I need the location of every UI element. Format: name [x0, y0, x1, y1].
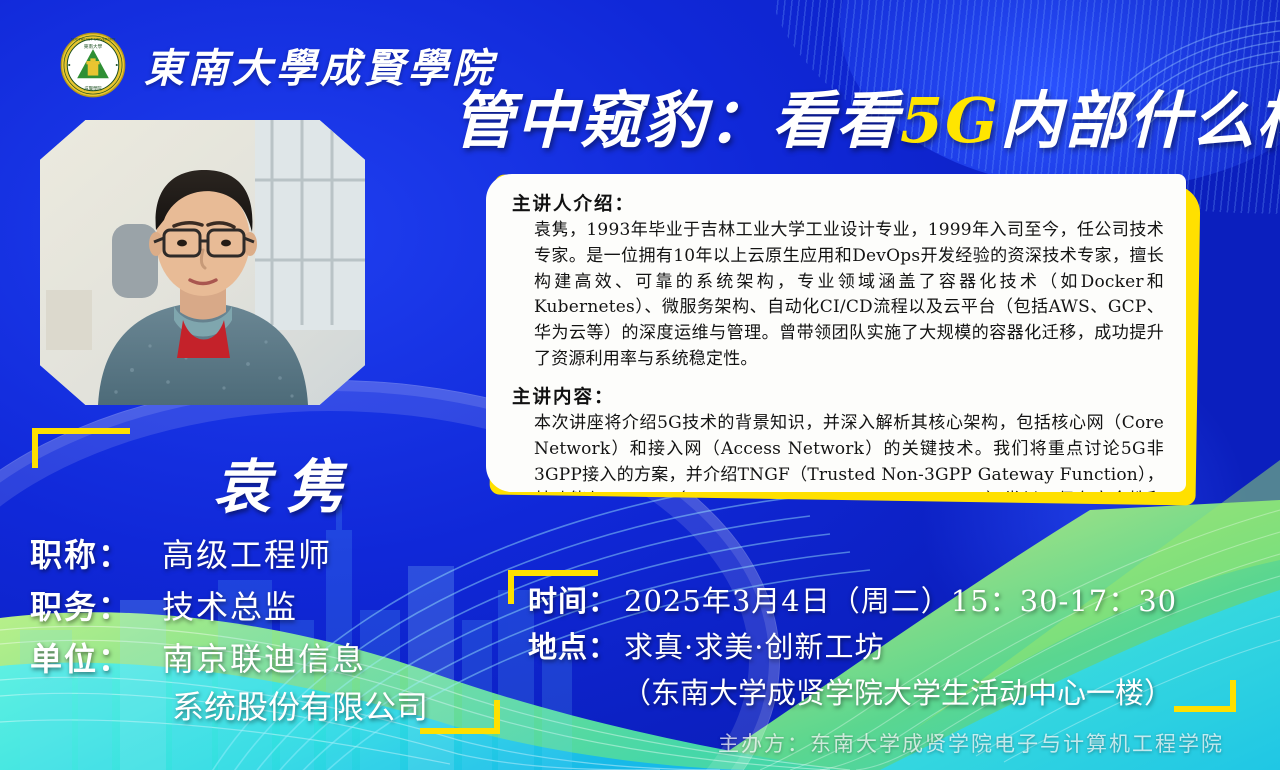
- event-place-sub: （东南大学成贤学院大学生活动中心一楼）: [622, 670, 1177, 712]
- speaker-photo: [40, 120, 365, 405]
- speaker-row-position: 职务： 技术总监: [30, 582, 500, 628]
- southeast-university-seal-icon: 東南大學 成賢學院 SOUTHEAST UNIVERSITY: [60, 32, 126, 98]
- intro-heading: 主讲人介绍：: [512, 190, 1164, 216]
- speaker-position-label: 职务：: [30, 582, 162, 628]
- speaker-title-label: 职称：: [30, 530, 162, 576]
- host-organizer-line: 主办方：东南大学成贤学院电子与计算机工程学院: [718, 728, 1224, 758]
- speaker-affiliation-label: 单位：: [30, 634, 162, 680]
- speaker-affiliation-line2: 系统股份有限公司: [172, 682, 500, 728]
- title-prefix: 管中窥豹：看看: [452, 84, 900, 157]
- poster-root: 東南大學 成賢學院 SOUTHEAST UNIVERSITY 東南大學成賢學院 …: [0, 0, 1280, 770]
- title-highlight-5g: 5G: [900, 84, 1000, 157]
- svg-text:SOUTHEAST UNIVERSITY: SOUTHEAST UNIVERSITY: [71, 38, 116, 42]
- event-time-row: 时间： 2025年3月4日（周二）15：30-17：30: [528, 578, 1177, 620]
- university-name: 東南大學成賢學院: [144, 36, 496, 94]
- speaker-name: 袁隽: [70, 440, 500, 524]
- info-card: 主讲人介绍： 袁隽，1993年毕业于吉林工业大学工业设计专业，1999年入司至今…: [486, 174, 1186, 492]
- speaker-row-title: 职称： 高级工程师: [30, 530, 500, 576]
- event-time-value: 2025年3月4日（周二）15：30-17：30: [624, 578, 1177, 620]
- speaker-info-block: 袁隽 职称： 高级工程师 职务： 技术总监 单位： 南京联迪信息 系统股份有限公…: [30, 440, 500, 728]
- portrait-frame: [40, 120, 365, 405]
- speaker-row-affiliation: 单位： 南京联迪信息: [30, 634, 500, 680]
- event-place-value: 求真·求美·创新工坊: [624, 624, 884, 666]
- header-logo-row: 東南大學 成賢學院 SOUTHEAST UNIVERSITY 東南大學成賢學院: [60, 32, 496, 98]
- speaker-title-value: 高级工程师: [162, 530, 332, 576]
- intro-body: 袁隽，1993年毕业于吉林工业大学工业设计专业，1999年入司至今，任公司技术专…: [508, 218, 1164, 373]
- content-body: 本次讲座将介绍5G技术的背景知识，并深入解析其核心架构，包括核心网（Core N…: [508, 411, 1164, 492]
- event-place-label: 地点：: [528, 624, 618, 666]
- speaker-position-value: 技术总监: [162, 582, 298, 628]
- title-suffix: 内部什么样: [1000, 84, 1280, 157]
- event-time-label: 时间：: [528, 578, 618, 620]
- event-meta-block: 时间： 2025年3月4日（周二）15：30-17：30 地点： 求真·求美·创…: [528, 578, 1177, 712]
- content-heading: 主讲内容：: [512, 383, 1164, 409]
- corner-bracket-meta-bottom-right: [1174, 680, 1236, 712]
- speaker-affiliation-value: 南京联迪信息: [162, 634, 366, 680]
- event-place-row: 地点： 求真·求美·创新工坊: [528, 624, 1177, 666]
- page-title: 管中窥豹：看看5G内部什么样: [452, 88, 1280, 153]
